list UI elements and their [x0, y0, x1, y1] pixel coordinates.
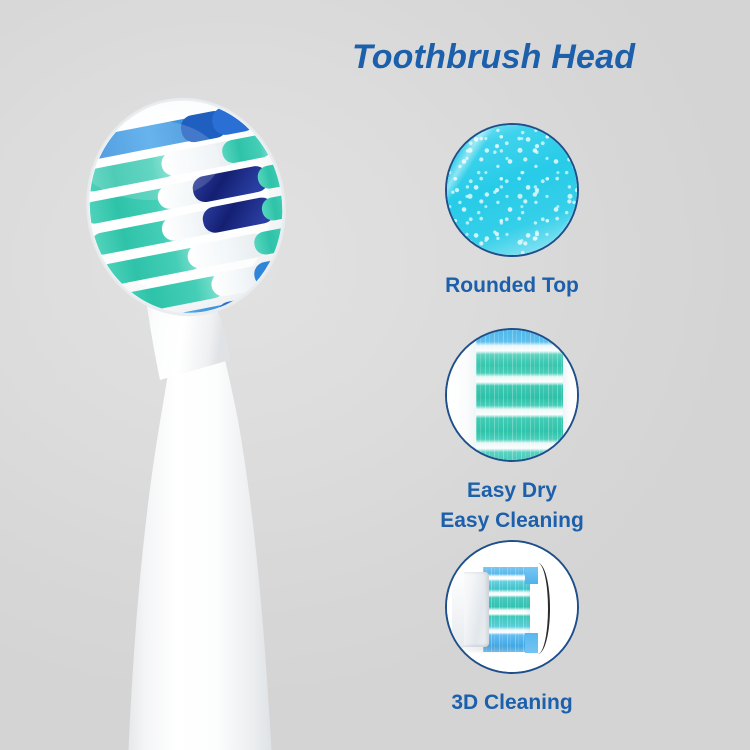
feature-3-circle-wrap — [445, 540, 579, 674]
feature-1-circle-wrap — [445, 123, 579, 257]
bristle-tips-macro-icon — [445, 123, 579, 257]
product-feature-graphic: Toothbrush Head — [0, 0, 750, 750]
feature-1-caption: Rounded Top — [402, 271, 622, 301]
feature-2-caption-line-2: Easy Cleaning — [402, 506, 622, 536]
feature-2-caption: Easy Dry Easy Cleaning — [402, 476, 622, 536]
feature-3-caption-line-1: 3D Cleaning — [402, 688, 622, 718]
feature-3-caption: 3D Cleaning — [402, 688, 622, 718]
feature-rounded-top: Rounded Top — [402, 123, 622, 301]
feature-3d-cleaning: 3D Cleaning — [402, 540, 622, 718]
feature-2-circle-wrap — [445, 328, 579, 462]
feature-2-caption-line-1: Easy Dry — [402, 476, 622, 506]
brush-head-side-view-icon — [445, 540, 579, 674]
bristle-bands-macro-icon — [445, 328, 579, 462]
feature-1-caption-line-1: Rounded Top — [402, 271, 622, 301]
page-title: Toothbrush Head — [352, 38, 712, 77]
feature-easy-dry-easy-cleaning: Easy Dry Easy Cleaning — [402, 328, 622, 536]
toothbrush-illustration — [0, 60, 400, 750]
